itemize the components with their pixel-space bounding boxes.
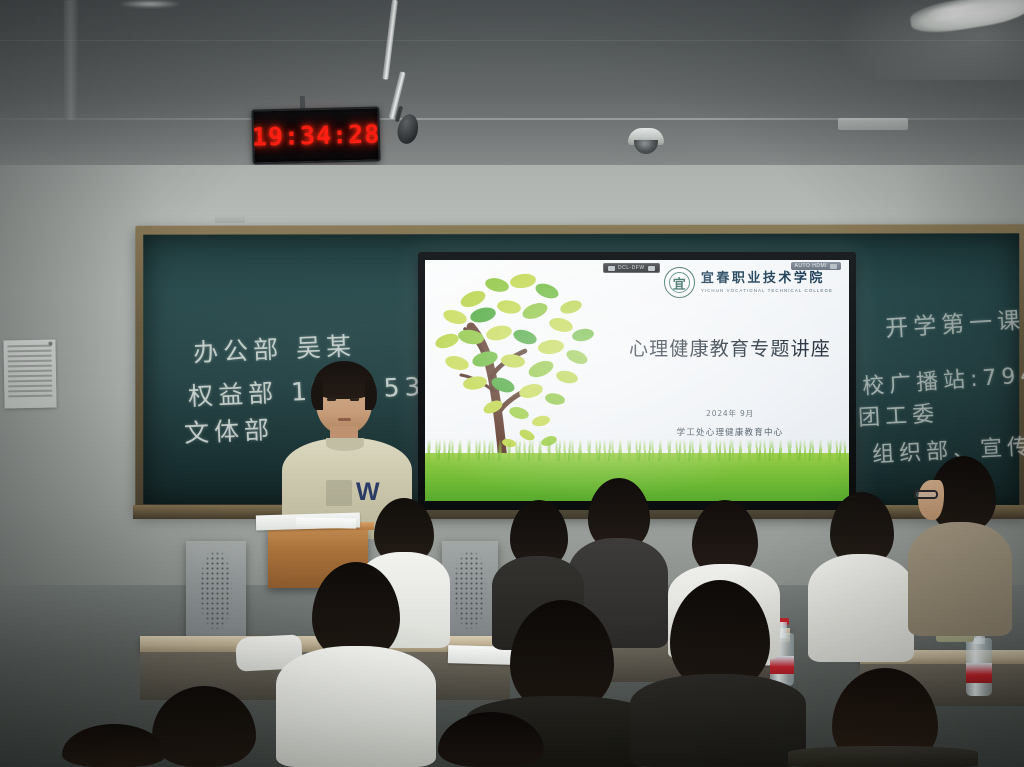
seal-mark: 宜 [673, 274, 686, 293]
chalk-text-left-3: 文体部 [183, 410, 275, 450]
ceiling-seam-upper [0, 40, 1024, 41]
logo-text-block: 宜春职业技术学院 YICHUN VOCATIONAL TECHNICAL COL… [701, 272, 833, 293]
fluorescent-tube-light-far [120, 0, 180, 8]
presenter-shirt-graphic [326, 480, 352, 506]
slide-date: 2024年 9月 [605, 408, 849, 419]
lectern-papers-2 [296, 517, 356, 528]
presentation-slide: 宜 宜春职业技术学院 YICHUN VOCATIONAL TECHNICAL C… [425, 260, 849, 501]
floor-speaker-left [186, 541, 246, 646]
tree-icon [431, 265, 621, 465]
osd-chip-icon [608, 266, 615, 271]
projection-screen: 宜 宜春职业技术学院 YICHUN VOCATIONAL TECHNICAL C… [418, 252, 856, 510]
student-hair-fl [62, 724, 166, 767]
wall-vent [215, 214, 245, 223]
college-seal-icon: 宜 [664, 267, 695, 298]
speaker-grille-icon [200, 551, 232, 629]
notice-pin-icon [48, 342, 52, 346]
chalk-text-right-3: 团工委 [857, 396, 940, 432]
presenter-hair-side [311, 380, 323, 410]
presenter-eye-left [327, 398, 336, 401]
student-back-6-glasses [908, 456, 1012, 636]
student-front-3 [630, 580, 806, 767]
led-clock: 19:34:28 [251, 106, 380, 164]
college-logo: 宜 宜春职业技术学院 YICHUN VOCATIONAL TECHNICAL C… [664, 267, 833, 298]
college-name-en: YICHUN VOCATIONAL TECHNICAL COLLEGE [701, 288, 833, 293]
student-far-left [62, 724, 182, 767]
ceiling-beam [64, 0, 78, 120]
projector-osd-left: DCL-DFW [603, 263, 660, 273]
slide-organization: 学工处心理健康教育中心 [605, 426, 849, 438]
tree-illustration [431, 265, 621, 465]
student-torso-5 [808, 554, 914, 662]
student-face-6 [918, 480, 944, 520]
ceiling-fixture-box [838, 118, 908, 130]
osd-right-label: AUTO HDMI [795, 263, 827, 269]
slide-grass-tips [425, 439, 849, 461]
wall-notice-paper [3, 340, 56, 409]
projector-osd-right: AUTO HDMI [791, 262, 841, 270]
classroom-photo: 19:34:28 办公部 吴某 权益部 134…53 文体部 开学第一课 校广播… [0, 0, 1024, 767]
slide-title: 心理健康教育专题讲座 [605, 334, 849, 361]
student-hair-f6 [438, 712, 544, 767]
presenter-eye-right [350, 398, 359, 401]
osd-left-label: DCL-DFW [618, 265, 645, 271]
college-name-cn: 宜春职业技术学院 [701, 272, 833, 286]
ceiling [0, 0, 1024, 175]
student-back-5 [808, 492, 914, 662]
student-front-4 [788, 668, 978, 767]
osd-chip-icon-2 [648, 266, 655, 271]
student-front-6 [398, 712, 580, 767]
presenter-hair-side-r [365, 380, 377, 410]
glasses-icon [914, 490, 938, 499]
presenter-mouth [338, 418, 351, 421]
student-torso-6 [908, 522, 1012, 636]
student-torso-f4 [788, 746, 978, 767]
osd-chip-icon-3 [830, 264, 837, 269]
presenter-collar [326, 438, 364, 451]
student-torso-f3 [630, 674, 806, 767]
clock-time-display: 19:34:28 [251, 119, 380, 151]
